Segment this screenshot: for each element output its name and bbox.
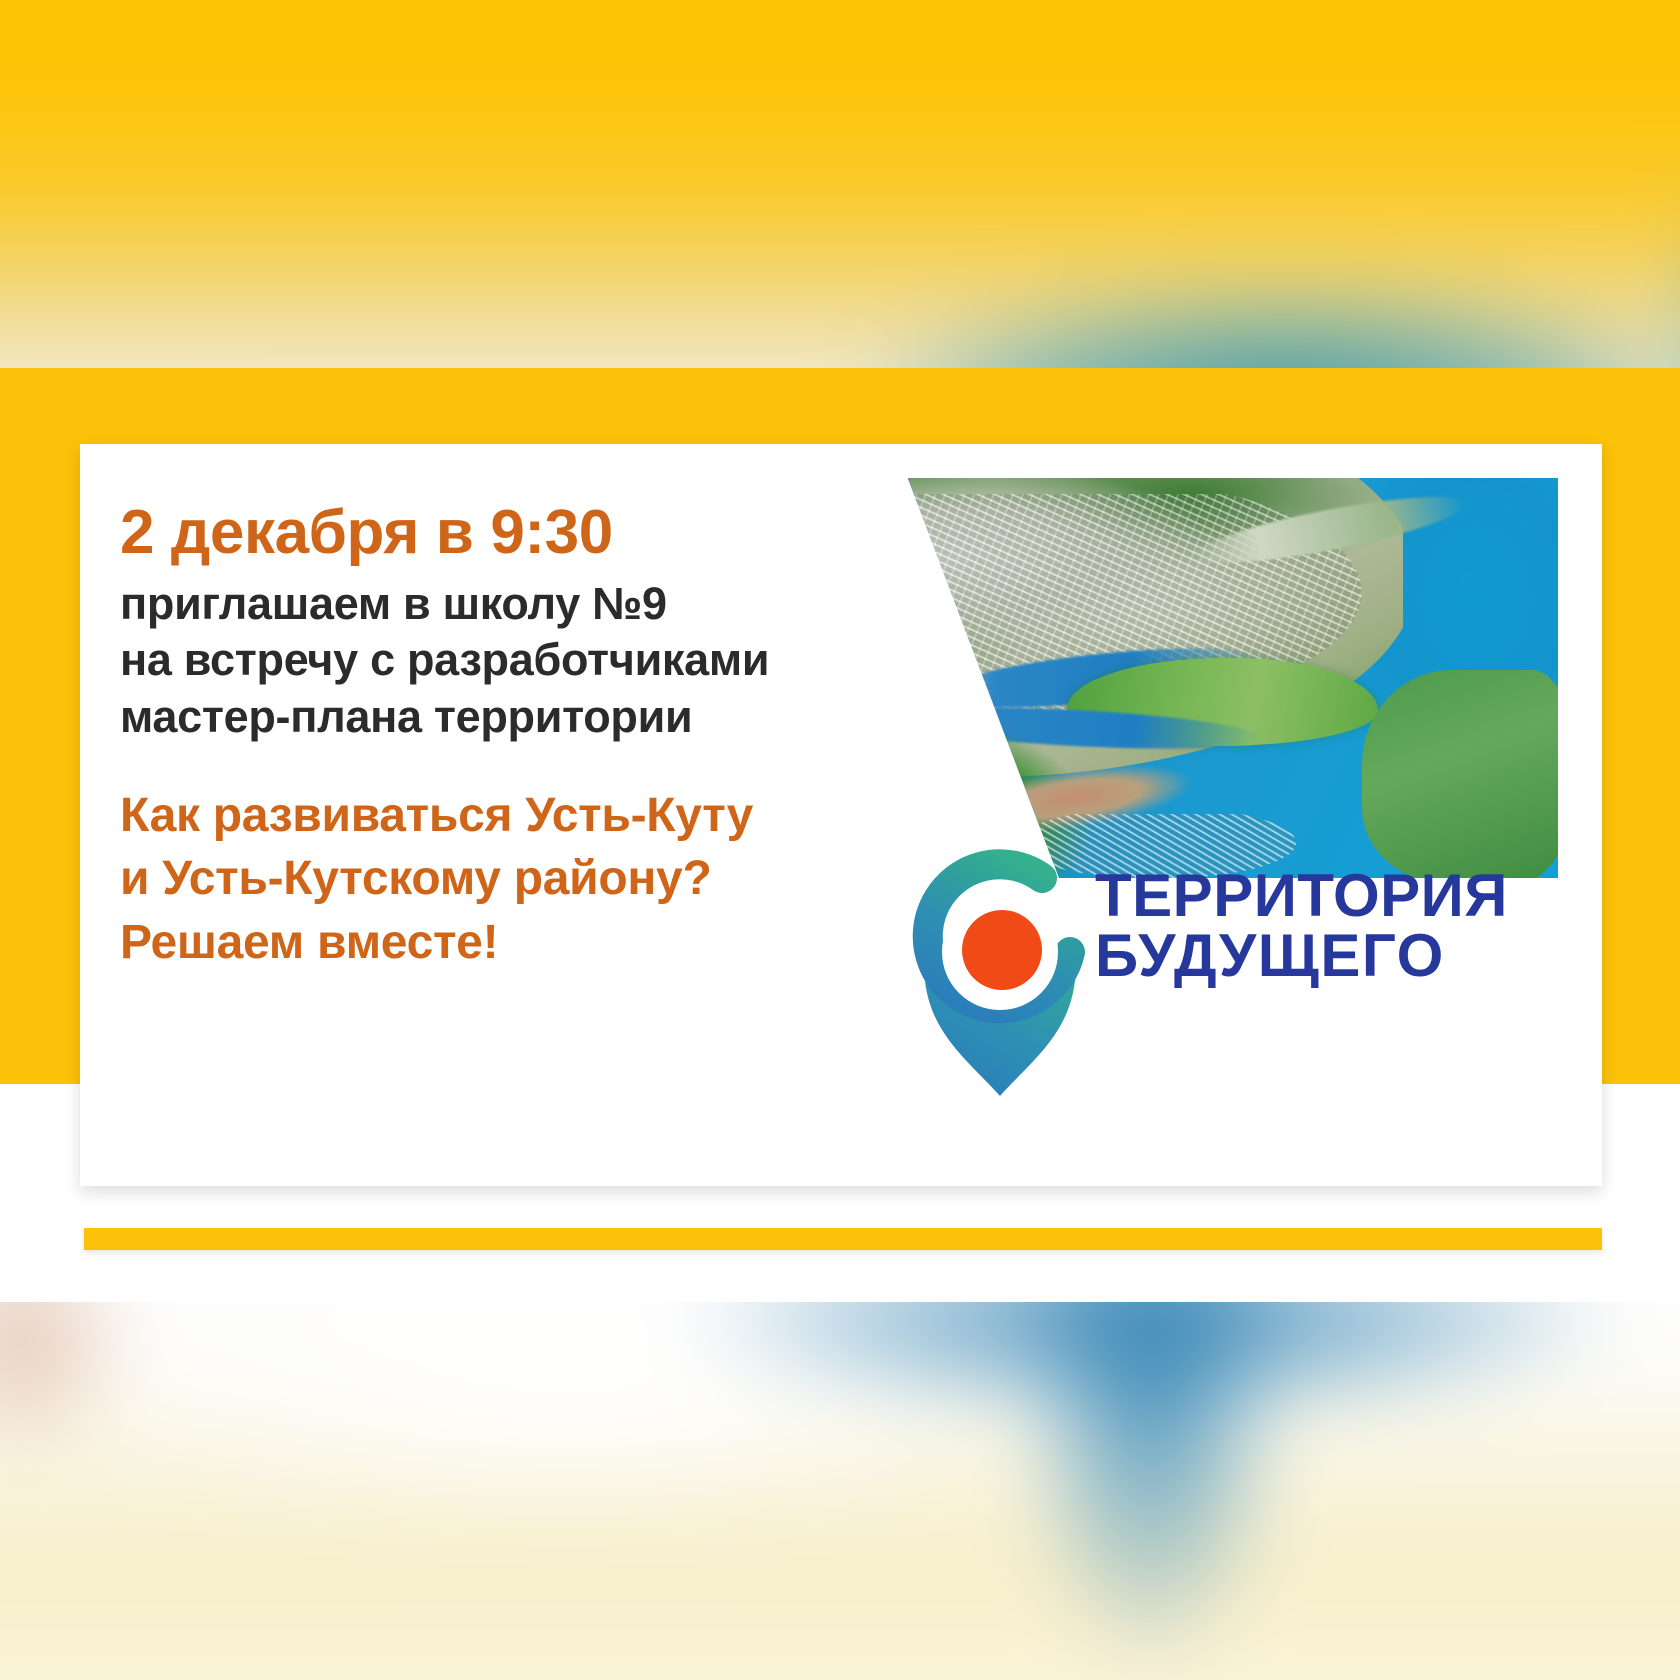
brand-logo-wordmark: ТЕРРИТОРИЯ БУДУЩЕГО xyxy=(1095,866,1508,986)
blurred-background-top xyxy=(0,0,1680,372)
brand-line-2: БУДУЩЕГО xyxy=(1095,926,1508,986)
invite-line-1: приглашаем в школу №9 xyxy=(120,576,820,633)
blurred-background-bottom xyxy=(0,1302,1680,1680)
invite-line-3: мастер-плана территории xyxy=(120,689,820,746)
background-blur-layer-bottom xyxy=(0,1302,1680,1680)
question-block: Как развиваться Усть-Куту и Усть-Кутском… xyxy=(120,784,820,974)
background-blur-layer-top xyxy=(0,0,1680,372)
text-block: 2 декабря в 9:30 приглашаем в школу №9 н… xyxy=(120,500,820,974)
invite-line-2: на встречу с разработчиками xyxy=(120,632,820,689)
event-date-time: 2 декабря в 9:30 xyxy=(120,500,820,566)
bottom-yellow-bar xyxy=(84,1228,1602,1250)
location-pin-circle-icon xyxy=(910,844,1090,1104)
question-line-1: Как развиваться Усть-Куту xyxy=(120,784,820,847)
announcement-card: 2 декабря в 9:30 приглашаем в школу №9 н… xyxy=(80,444,1602,1186)
question-line-2: и Усть-Кутскому району? xyxy=(120,847,820,910)
brand-line-1: ТЕРРИТОРИЯ xyxy=(1095,866,1508,926)
brand-logo: ТЕРРИТОРИЯ БУДУЩЕГО xyxy=(910,844,1530,1144)
aerial-photo xyxy=(740,478,1558,878)
poster-canvas: 2 декабря в 9:30 приглашаем в школу №9 н… xyxy=(0,0,1680,1680)
question-line-3: Решаем вместе! xyxy=(120,911,820,974)
